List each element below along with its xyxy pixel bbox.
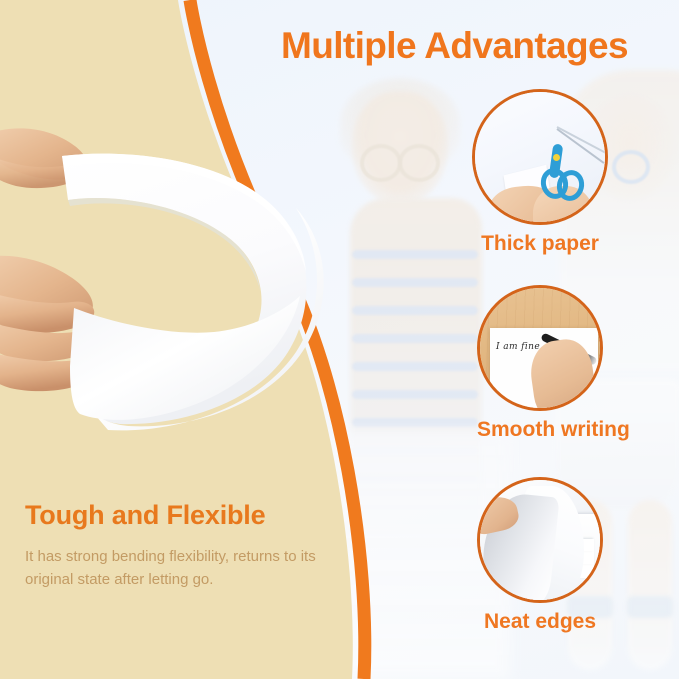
- feature-neat-edges: Neat edges: [477, 477, 603, 634]
- feature-thick-paper-image: [472, 89, 608, 225]
- ghost-sunglasses-right: [612, 150, 650, 184]
- feature-thick-paper-label: Thick paper: [472, 232, 608, 256]
- feature-neat-edges-image: [477, 477, 603, 603]
- ghost-leg: [628, 500, 672, 670]
- page-title: Multiple Advantages: [281, 25, 677, 67]
- product-infographic: Multiple Advantages Tough and Flexible I…: [0, 0, 679, 679]
- left-body-text: It has strong bending flexibility, retur…: [25, 545, 355, 592]
- left-text-block: Tough and Flexible It has strong bending…: [25, 500, 355, 592]
- scissors-pivot-icon: [553, 154, 560, 161]
- feature-smooth-writing-image: I am fine, and: [477, 285, 603, 411]
- feature-smooth-writing-label: Smooth writing: [477, 418, 603, 442]
- left-headline: Tough and Flexible: [25, 500, 355, 531]
- feature-neat-edges-label: Neat edges: [477, 610, 603, 634]
- feature-smooth-writing: I am fine, and Smooth writing: [477, 285, 603, 442]
- feature-thick-paper: Thick paper: [472, 89, 608, 256]
- ghost-sock: [627, 596, 673, 618]
